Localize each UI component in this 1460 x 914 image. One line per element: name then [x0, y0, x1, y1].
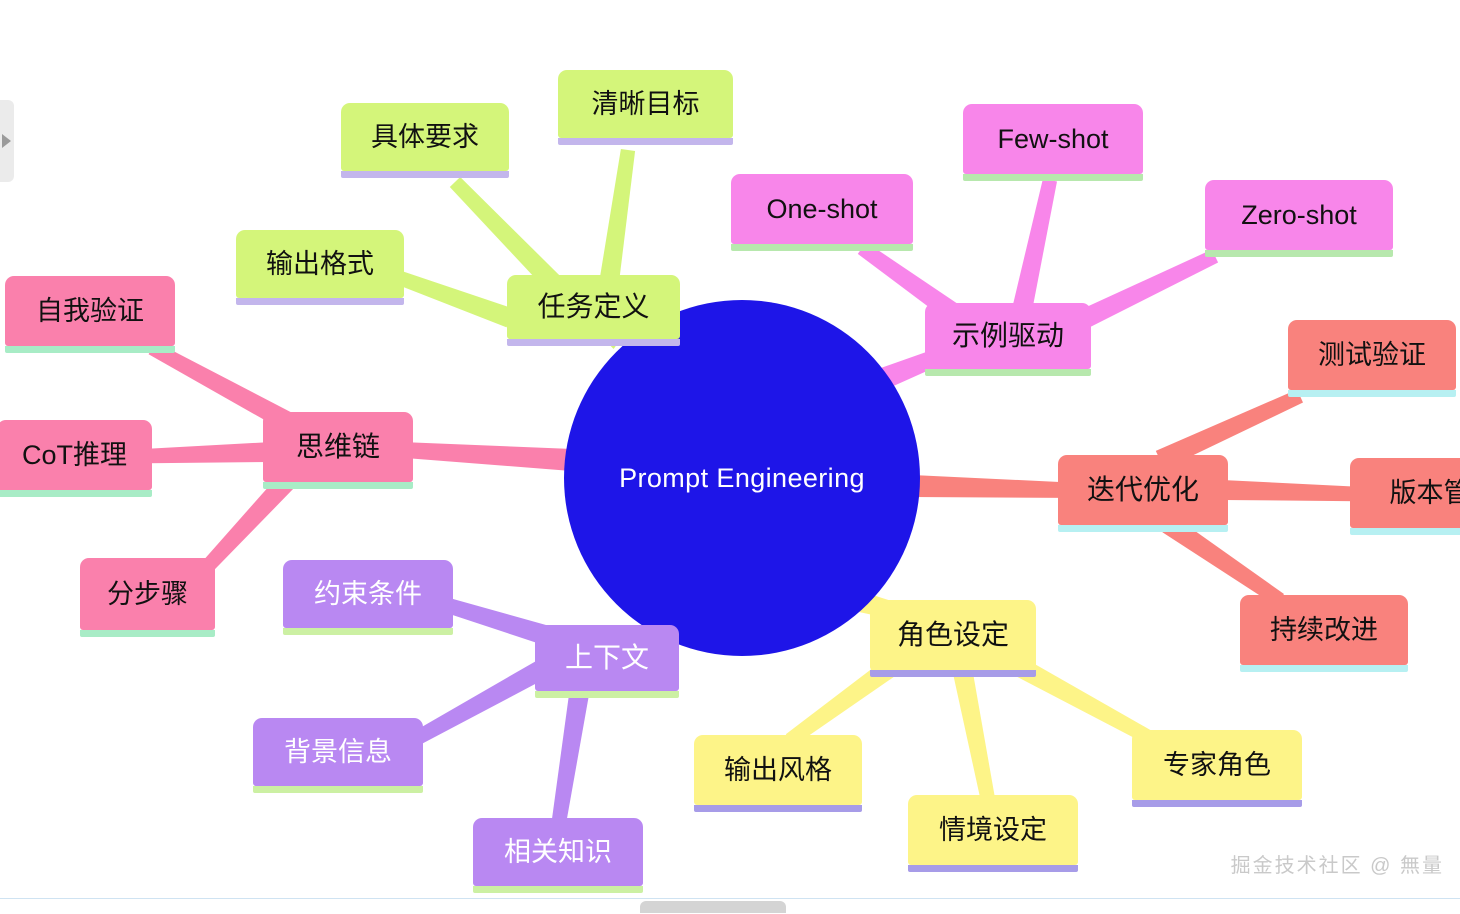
- node-underline-task-definition: [507, 339, 680, 346]
- chevron-right-icon: [2, 134, 11, 148]
- node-label-expert-role: 专家角色: [1163, 752, 1271, 779]
- node-clear-goal[interactable]: 清晰目标: [558, 70, 733, 138]
- node-version-mgmt[interactable]: 版本管: [1350, 458, 1460, 528]
- node-underline-chain-of-thought: [263, 482, 413, 489]
- edge-task-definition-to-clear-goal: [598, 149, 635, 291]
- panel-expand-toggle[interactable]: [0, 100, 14, 182]
- node-self-verify[interactable]: 自我验证: [5, 276, 175, 346]
- node-underline-zero-shot: [1205, 250, 1393, 257]
- edge-role-setting-to-scene-setting: [952, 666, 995, 801]
- edge-center-to-iterative-optimization: [912, 475, 1062, 498]
- node-label-step-by-step: 分步骤: [107, 581, 188, 608]
- node-task-definition[interactable]: 任务定义: [507, 275, 680, 339]
- node-label-iterative-optimization: 迭代优化: [1087, 476, 1199, 504]
- node-underline-test-verify: [1288, 390, 1456, 397]
- node-zero-shot[interactable]: Zero-shot: [1205, 180, 1393, 250]
- mindmap-canvas[interactable]: 清晰目标具体要求输出格式任务定义One-shotFew-shotZero-sho…: [0, 0, 1460, 914]
- node-underline-step-by-step: [80, 630, 215, 637]
- center-node-label: Prompt Engineering: [619, 463, 865, 494]
- node-label-test-verify: 测试验证: [1318, 342, 1426, 369]
- node-output-fmt[interactable]: 输出格式: [236, 230, 404, 298]
- node-related-knowledge[interactable]: 相关知识: [473, 818, 643, 886]
- node-step-by-step[interactable]: 分步骤: [80, 558, 215, 630]
- node-underline-self-verify: [5, 346, 175, 353]
- node-cot-reasoning[interactable]: CoT推理: [0, 420, 152, 490]
- node-underline-specific-req: [341, 171, 509, 178]
- node-underline-one-shot: [731, 244, 913, 251]
- horizontal-scrollbar[interactable]: [0, 898, 1460, 914]
- node-label-clear-goal: 清晰目标: [592, 91, 700, 118]
- edge-center-to-chain-of-thought: [404, 442, 573, 471]
- node-underline-output-fmt: [236, 298, 404, 305]
- node-context[interactable]: 上下文: [535, 625, 679, 691]
- node-label-specific-req: 具体要求: [371, 124, 479, 151]
- node-underline-role-setting: [870, 670, 1036, 677]
- node-label-cot-reasoning: CoT推理: [22, 442, 127, 469]
- node-label-background-info: 背景信息: [284, 739, 392, 766]
- node-label-self-verify: 自我验证: [36, 298, 144, 325]
- edge-iterative-optimization-to-version-mgmt: [1222, 480, 1359, 501]
- edge-example-driven-to-zero-shot: [1078, 250, 1218, 330]
- node-underline-example-driven: [925, 369, 1091, 376]
- node-label-output-style: 输出风格: [724, 757, 832, 784]
- node-role-setting[interactable]: 角色设定: [870, 600, 1036, 670]
- node-underline-background-info: [253, 786, 423, 793]
- node-underline-expert-role: [1132, 800, 1302, 807]
- node-label-example-driven: 示例驱动: [952, 322, 1064, 350]
- node-label-constraints: 约束条件: [314, 581, 422, 608]
- node-label-zero-shot: Zero-shot: [1241, 202, 1357, 229]
- node-example-driven[interactable]: 示例驱动: [925, 303, 1091, 369]
- node-underline-output-style: [694, 805, 862, 812]
- node-label-one-shot: One-shot: [766, 196, 877, 223]
- node-background-info[interactable]: 背景信息: [253, 718, 423, 786]
- node-iterative-optimization[interactable]: 迭代优化: [1058, 455, 1228, 525]
- watermark: 掘金技术社区 @ 無量: [1231, 849, 1444, 878]
- node-underline-version-mgmt: [1350, 528, 1460, 535]
- node-scene-setting[interactable]: 情境设定: [908, 795, 1078, 865]
- node-label-output-fmt: 输出格式: [266, 251, 374, 278]
- edge-task-definition-to-output-fmt: [398, 271, 514, 327]
- edge-chain-of-thought-to-step-by-step: [203, 475, 294, 571]
- node-label-version-mgmt: 版本管: [1390, 480, 1460, 507]
- node-underline-few-shot: [963, 174, 1143, 181]
- node-label-context: 上下文: [565, 644, 649, 672]
- node-label-chain-of-thought: 思维链: [296, 433, 380, 461]
- node-underline-iterative-optimization: [1058, 525, 1228, 532]
- node-chain-of-thought[interactable]: 思维链: [263, 412, 413, 482]
- node-underline-context: [535, 691, 679, 698]
- node-label-few-shot: Few-shot: [997, 126, 1108, 153]
- edge-context-to-background-info: [407, 659, 549, 748]
- node-underline-related-knowledge: [473, 886, 643, 893]
- node-output-style[interactable]: 输出风格: [694, 735, 862, 805]
- node-constraints[interactable]: 约束条件: [283, 560, 453, 628]
- edge-chain-of-thought-to-cot-reasoning: [148, 442, 272, 463]
- node-label-task-definition: 任务定义: [537, 293, 649, 321]
- node-label-continuous-improve: 持续改进: [1270, 617, 1378, 644]
- node-label-role-setting: 角色设定: [897, 621, 1009, 649]
- node-few-shot[interactable]: Few-shot: [963, 104, 1143, 174]
- node-label-scene-setting: 情境设定: [939, 817, 1047, 844]
- node-continuous-improve[interactable]: 持续改进: [1240, 595, 1408, 665]
- node-underline-constraints: [283, 628, 453, 635]
- node-underline-scene-setting: [908, 865, 1078, 872]
- node-expert-role[interactable]: 专家角色: [1132, 730, 1302, 800]
- node-specific-req[interactable]: 具体要求: [341, 103, 509, 171]
- center-node[interactable]: Prompt Engineering: [564, 300, 920, 656]
- node-test-verify[interactable]: 测试验证: [1288, 320, 1456, 390]
- node-underline-continuous-improve: [1240, 665, 1408, 672]
- edge-example-driven-to-few-shot: [1012, 179, 1057, 313]
- horizontal-scrollbar-thumb[interactable]: [640, 901, 786, 913]
- edge-context-to-related-knowledge: [551, 686, 590, 829]
- node-one-shot[interactable]: One-shot: [731, 174, 913, 244]
- node-underline-clear-goal: [558, 138, 733, 145]
- node-underline-cot-reasoning: [0, 490, 152, 497]
- node-label-related-knowledge: 相关知识: [504, 839, 612, 866]
